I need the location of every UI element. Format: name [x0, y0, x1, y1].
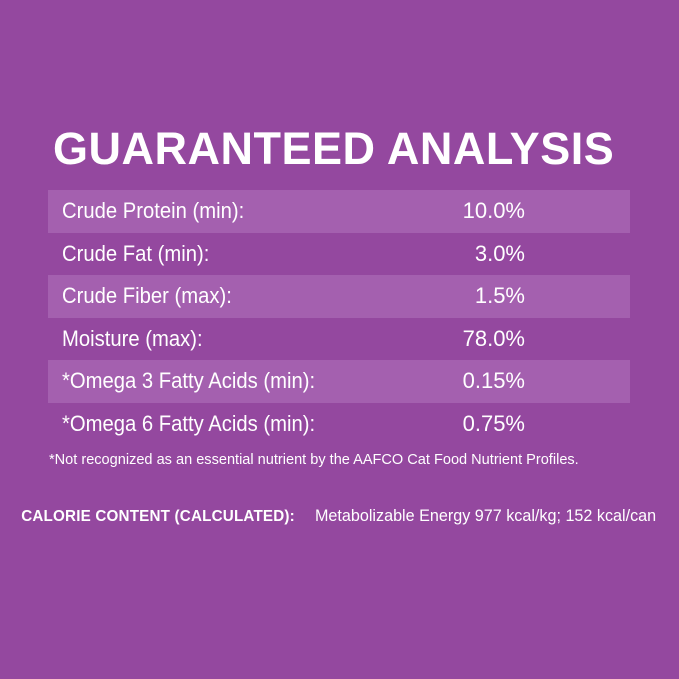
calorie-content-detail: Metabolizable Energy 977 kcal/kg; 152 kc…: [315, 505, 656, 527]
nutrient-label: Moisture (max):: [62, 326, 203, 352]
nutrient-value: 3.0%: [475, 241, 525, 267]
table-row: *Omega 6 Fatty Acids (min):0.75%: [48, 403, 630, 446]
table-row: Crude Fiber (max):1.5%: [48, 275, 630, 318]
nutrient-label: Crude Fiber (max):: [62, 283, 232, 309]
calorie-content-heading: CALORIE CONTENT (CALCULATED):: [21, 506, 295, 527]
nutrient-value: 0.15%: [463, 368, 525, 394]
nutrient-label: *Omega 3 Fatty Acids (min):: [62, 368, 315, 394]
guaranteed-analysis-panel: GUARANTEED ANALYSIS Crude Protein (min):…: [0, 0, 679, 679]
aafco-footnote: *Not recognized as an essential nutrient…: [49, 450, 614, 470]
nutrient-value: 78.0%: [463, 326, 525, 352]
calorie-content-block: CALORIE CONTENT (CALCULATED): Metaboliza…: [0, 500, 679, 527]
guaranteed-analysis-table: Crude Protein (min):10.0%Crude Fat (min)…: [48, 190, 630, 445]
nutrient-value: 1.5%: [475, 283, 525, 309]
nutrient-value: 0.75%: [463, 411, 525, 437]
nutrient-label: Crude Protein (min):: [62, 198, 244, 224]
table-row: *Omega 3 Fatty Acids (min):0.15%: [48, 360, 630, 403]
table-row: Crude Fat (min):3.0%: [48, 233, 630, 276]
table-row: Moisture (max):78.0%: [48, 318, 630, 361]
nutrient-label: *Omega 6 Fatty Acids (min):: [62, 411, 315, 437]
table-row: Crude Protein (min):10.0%: [48, 190, 630, 233]
page-title: GUARANTEED ANALYSIS: [53, 124, 631, 174]
nutrient-value: 10.0%: [463, 198, 525, 224]
nutrient-label: Crude Fat (min):: [62, 241, 209, 267]
